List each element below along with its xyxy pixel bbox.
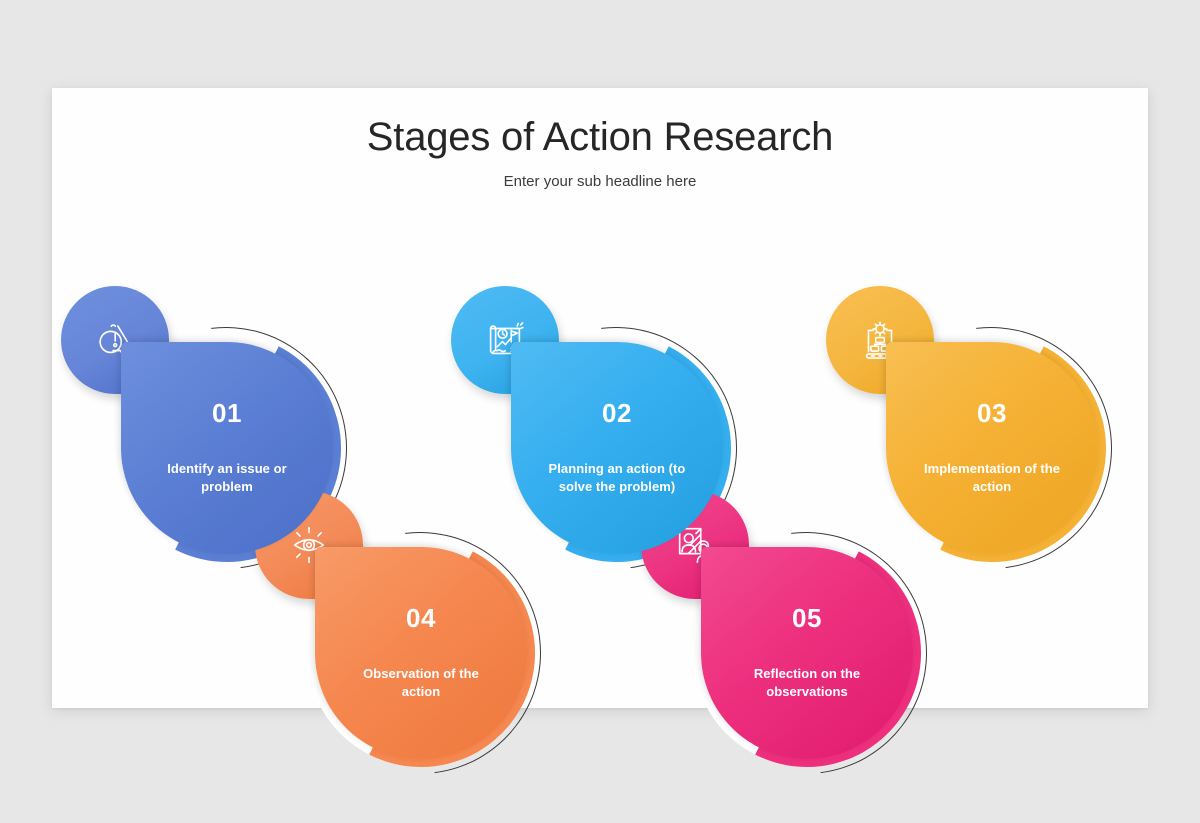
stage-card-03[interactable]: 03Implementation of the action (883, 332, 1123, 572)
stage-card-04[interactable]: 04Observation of the action (312, 537, 552, 777)
stage-body[interactable]: 01Identify an issue or problem (121, 342, 333, 554)
slide-header: Stages of Action Research Enter your sub… (52, 88, 1148, 190)
stage-description: Implementation of the action (917, 460, 1067, 496)
stage-body[interactable]: 03Implementation of the action (886, 342, 1098, 554)
stage-number: 02 (602, 400, 632, 426)
stage-number: 05 (792, 605, 822, 631)
stage-body[interactable]: 05Reflection on the observations (701, 547, 913, 759)
stage-description: Observation of the action (346, 665, 496, 701)
stage-description: Reflection on the observations (732, 665, 882, 701)
slide-canvas: Stages of Action Research Enter your sub… (52, 88, 1148, 708)
stage-body[interactable]: 04Observation of the action (315, 547, 527, 759)
stages-container: 01Identify an issue or problem 02Plannin… (52, 190, 1148, 810)
stage-number: 01 (212, 400, 242, 426)
stage-card-05[interactable]: 05Reflection on the observations (698, 537, 938, 777)
page-subtitle: Enter your sub headline here (52, 173, 1148, 190)
stage-number: 03 (977, 400, 1007, 426)
stage-number: 04 (406, 605, 436, 631)
stage-description: Planning an action (to solve the problem… (542, 460, 692, 496)
stage-body[interactable]: 02Planning an action (to solve the probl… (511, 342, 723, 554)
page-title: Stages of Action Research (52, 114, 1148, 160)
stage-description: Identify an issue or problem (152, 460, 302, 496)
